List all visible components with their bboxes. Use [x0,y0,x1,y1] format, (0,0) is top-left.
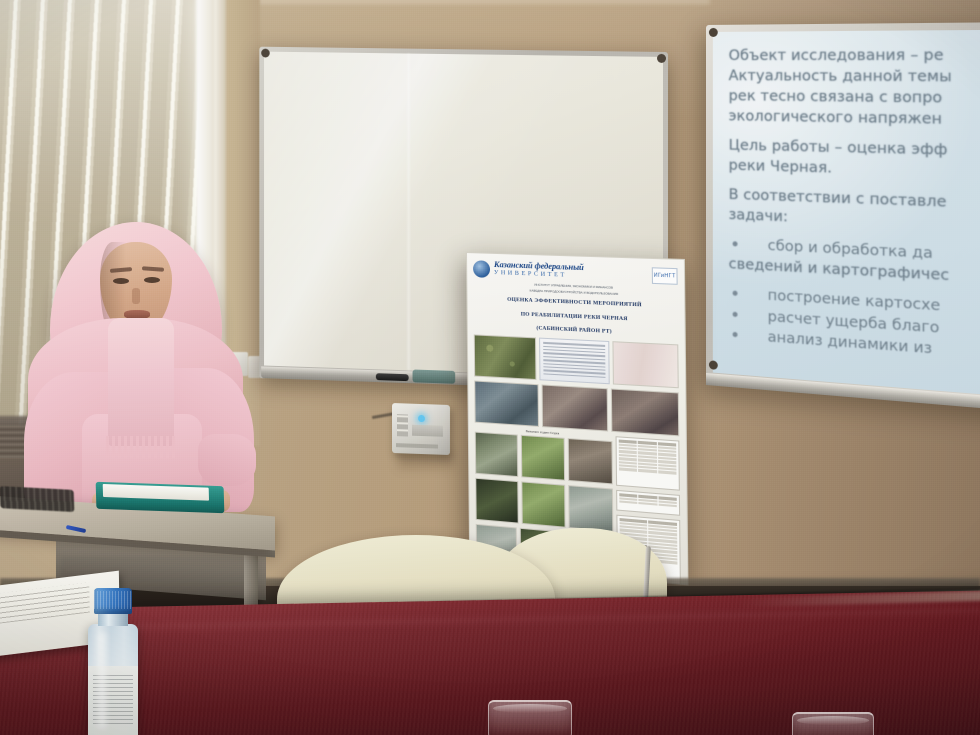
institute-badge: ИГиНГТ [652,267,678,285]
scarf [108,318,174,446]
stream-photo [568,485,613,532]
bank-photo [568,438,613,484]
water-bottle[interactable] [82,588,144,735]
data-table-1 [615,436,680,491]
slide-line-2: Актуальность данной темы [729,66,980,88]
bush-photo [475,478,518,524]
bottle-neck [98,612,128,626]
screen-corner-bottom [709,360,718,370]
poster-row-3 [475,432,613,485]
eye-left [113,278,129,284]
bullet-dot-icon [733,311,738,316]
scarf-fringe [106,436,178,458]
plastic-cup-right[interactable] [792,712,874,735]
map-figure [612,341,678,388]
whiteboard-seam [408,54,410,371]
satellite-image-2 [542,385,609,432]
bottle-highlight [98,632,106,728]
cup-rim [797,716,869,725]
presenter [22,222,257,522]
eraser[interactable] [413,369,456,383]
river-photo [475,432,518,477]
computer-keyboard[interactable] [0,486,74,512]
bottle-label [88,666,138,735]
bullet-dot-icon [733,241,738,246]
whiteboard-corner-left [261,49,270,58]
plastic-cup-left[interactable] [488,700,572,735]
eye-right [144,277,160,283]
device-label-strip [396,443,438,448]
whiteboard-corner-right [657,54,666,63]
bullet-dot-icon [733,332,738,337]
projection-screen[interactable]: Объект исследования – ре Актуальность да… [706,22,980,412]
teal-folder[interactable] [96,482,225,514]
kfu-logo-icon [473,260,490,278]
sleeve-ruffle [198,434,256,486]
marker[interactable] [376,373,409,381]
institute-badge-label: ИГиНГТ [654,272,676,279]
kfu-wordmark: Казанский федеральный УНИВЕРСИТЕТ [494,261,648,284]
intro-text-block [539,338,610,385]
data-table-2 [616,490,680,516]
grass-photo [521,435,565,481]
classroom-photo: Объект исследования – ре Актуальность да… [0,0,980,735]
bottle-cap-ridges [94,591,132,609]
device-keypad-icon[interactable] [397,414,408,436]
vegetation-photo [521,481,565,527]
screen-corner-top [709,28,718,37]
power-led-icon [418,415,425,422]
nose [132,288,140,304]
slide-line-1: Объект исследования – ре [729,45,980,67]
device-display [412,425,443,437]
aerial-photo [474,335,537,381]
bullet-dot-icon [733,291,738,296]
wall-control-panel[interactable] [392,403,450,455]
cup-rim [493,704,567,713]
satellite-image-1 [474,381,539,427]
poster-row-1 [474,335,679,389]
satellite-image-3 [611,389,679,437]
screen-surface[interactable]: Объект исследования – ре Актуальность да… [713,30,980,398]
poster-row-4 [475,478,613,532]
